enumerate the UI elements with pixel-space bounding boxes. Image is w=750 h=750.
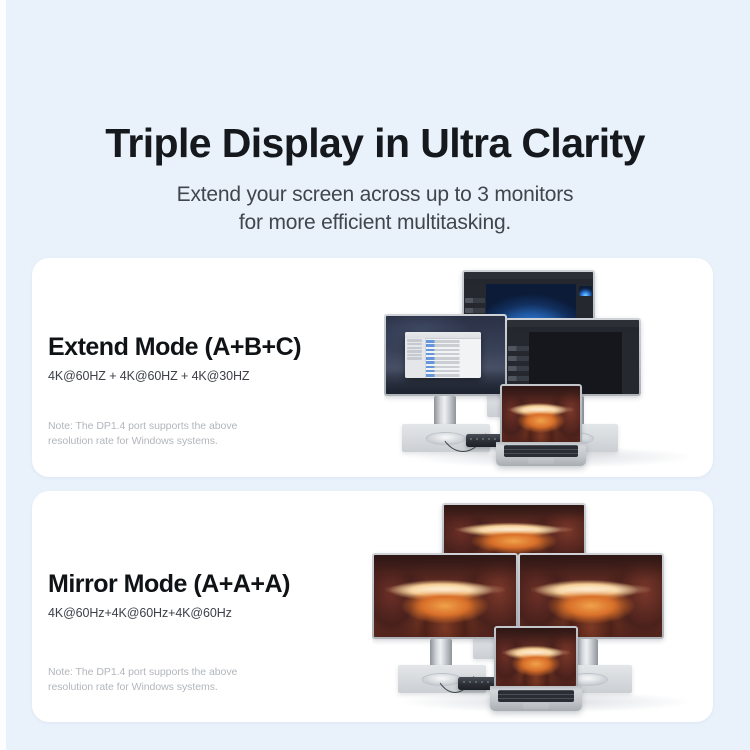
laptop-keyboard	[504, 445, 578, 457]
extend-mode-text-block: Extend Mode (A+B+C) 4K@60HZ + 4K@60HZ + …	[48, 334, 378, 450]
right-monitor-screen	[507, 320, 639, 394]
mirror-mode-resolution: 4K@60Hz+4K@60Hz+4K@60Hz	[48, 606, 378, 620]
canyon-wallpaper	[496, 628, 576, 686]
editor-right-panel	[621, 332, 639, 394]
editor-preview-thumbnail	[625, 334, 638, 344]
laptop-trackpad	[528, 458, 553, 463]
laptop-screen	[496, 628, 576, 686]
right-monitor-screen	[520, 555, 662, 637]
laptop-keyboard-deck	[490, 686, 582, 711]
canyon-wallpaper	[374, 555, 516, 637]
laptop-screen	[502, 386, 580, 442]
promo-page: Triple Display in Ultra Clarity Extend y…	[0, 0, 750, 750]
left-monitor	[384, 314, 507, 396]
mirror-mode-note-line-2: resolution rate for Windows systems.	[48, 680, 378, 696]
card-extend-mode: Extend Mode (A+B+C) 4K@60HZ + 4K@60HZ + …	[32, 258, 713, 477]
extend-mode-title: Extend Mode (A+B+C)	[48, 334, 378, 362]
page-subtitle-line-1: Extend your screen across up to 3 monito…	[0, 181, 750, 209]
left-monitor-screen	[374, 555, 516, 637]
file-browser-sidebar	[405, 338, 426, 378]
mirror-mode-note: Note: The DP1.4 port supports the above …	[48, 665, 378, 697]
page-header: Triple Display in Ultra Clarity Extend y…	[0, 122, 750, 238]
extend-mode-illustration	[384, 264, 713, 476]
editor-preview-thumbnail	[579, 286, 592, 296]
extend-mode-note-line-1: Note: The DP1.4 port supports the above	[48, 419, 378, 435]
extend-mode-resolution: 4K@60HZ + 4K@60HZ + 4K@30HZ	[48, 369, 378, 383]
canyon-wallpaper	[502, 386, 580, 442]
mirror-mode-illustration	[372, 495, 713, 719]
card-mirror-mode: Mirror Mode (A+A+A) 4K@60Hz+4K@60Hz+4K@6…	[32, 491, 713, 722]
laptop-lid	[494, 626, 578, 686]
editor-ui-swirl	[507, 320, 639, 394]
laptop-lid	[500, 384, 582, 442]
page-title: Triple Display in Ultra Clarity	[0, 122, 750, 165]
laptop	[496, 384, 586, 468]
thumbnail-image	[579, 286, 592, 296]
editor-left-controls	[508, 346, 529, 381]
extend-mode-note: Note: The DP1.4 port supports the above …	[48, 419, 378, 451]
page-subtitle: Extend your screen across up to 3 monito…	[0, 181, 750, 238]
mirror-mode-text-block: Mirror Mode (A+A+A) 4K@60Hz+4K@60Hz+4K@6…	[48, 571, 378, 696]
left-monitor-screen	[386, 316, 505, 394]
file-browser-window	[405, 332, 481, 379]
canyon-wallpaper	[520, 555, 662, 637]
mirror-mode-note-line-1: Note: The DP1.4 port supports the above	[48, 665, 378, 681]
extend-mode-note-line-2: resolution rate for Windows systems.	[48, 434, 378, 450]
thumbnail-image	[625, 334, 638, 344]
laptop-trackpad	[523, 703, 549, 709]
laptop-keyboard-deck	[496, 442, 586, 466]
file-browser-list	[426, 340, 479, 377]
laptop-keyboard	[498, 690, 573, 702]
page-subtitle-line-2: for more efficient multitasking.	[0, 209, 750, 237]
mirror-mode-title: Mirror Mode (A+A+A)	[48, 571, 378, 599]
laptop	[490, 626, 582, 714]
